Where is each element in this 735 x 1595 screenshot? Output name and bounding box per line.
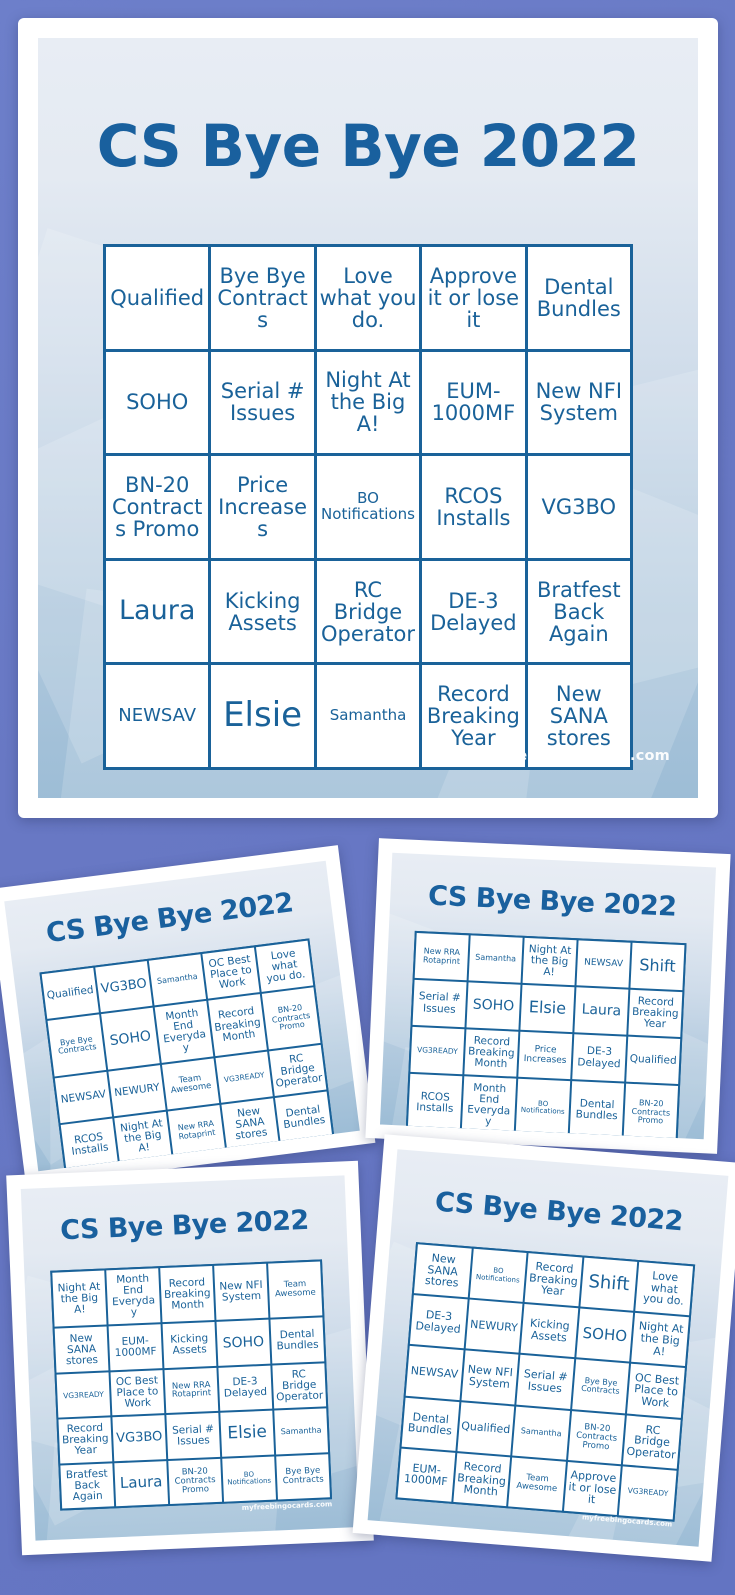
- bingo-cell[interactable]: Approve it or lose it: [422, 247, 524, 349]
- bingo-cell[interactable]: Bratfest Back Again: [60, 1463, 114, 1509]
- bingo-cell[interactable]: NEWSAV: [577, 940, 631, 987]
- bingo-cell[interactable]: Qualified: [42, 968, 99, 1019]
- bingo-cell[interactable]: Month End Everyday: [106, 1268, 160, 1325]
- bingo-cell[interactable]: Samantha: [274, 1409, 328, 1455]
- bingo-cell[interactable]: [281, 1138, 334, 1156]
- card-canvas: CS Bye Bye 2022 New SANA stores BO Notif…: [368, 1149, 729, 1546]
- bingo-card-main[interactable]: CS Bye Bye 2022 Qualified Bye Bye Contra…: [18, 18, 718, 818]
- bingo-cell[interactable]: New RRA Rotaprint: [415, 933, 469, 980]
- bingo-cell[interactable]: VG3BO: [95, 961, 152, 1012]
- bingo-card-4[interactable]: CS Bye Bye 2022 Night At the Big A! Mont…: [6, 1161, 374, 1555]
- bingo-cell[interactable]: NEWSAV: [55, 1072, 112, 1123]
- bingo-cell[interactable]: Bye Bye Contracts: [572, 1360, 629, 1413]
- bingo-cell[interactable]: Serial # Issues: [211, 352, 313, 454]
- bingo-grid: Night At the Big A! Month End Everyday R…: [50, 1259, 332, 1510]
- bingo-cell[interactable]: Approve it or lose it: [564, 1462, 621, 1515]
- bingo-grid: New RRA Rotaprint Samantha Night At the …: [405, 931, 686, 1139]
- bingo-cell[interactable]: Record Breaking Year: [525, 1253, 582, 1306]
- card-title: CS Bye Bye 2022: [392, 1183, 725, 1241]
- bingo-cell[interactable]: SOHO: [101, 1008, 160, 1070]
- bingo-cell[interactable]: Dental Bundles: [270, 1318, 324, 1364]
- bingo-cell[interactable]: Serial # Issues: [413, 980, 467, 1027]
- bingo-cell[interactable]: Elsie: [220, 1411, 274, 1457]
- bingo-cell[interactable]: NEWURY: [465, 1300, 522, 1353]
- bingo-cell[interactable]: Kicking Assets: [163, 1322, 217, 1368]
- bingo-cell[interactable]: DE-3 Delayed: [410, 1295, 467, 1348]
- bingo-cell[interactable]: New SANA stores: [55, 1327, 109, 1373]
- bingo-cell[interactable]: DE-3 Delayed: [218, 1365, 272, 1411]
- bingo-cell[interactable]: BO Notifications: [469, 1249, 526, 1302]
- bingo-cell[interactable]: Bye Bye Contracts: [211, 247, 313, 349]
- bingo-cell[interactable]: SOHO: [106, 352, 208, 454]
- bingo-cell[interactable]: Serial # Issues: [166, 1413, 220, 1459]
- watermark: myfreebingocards.com: [479, 748, 670, 764]
- bingo-cell[interactable]: New NFI System: [528, 352, 630, 454]
- bingo-card-5[interactable]: CS Bye Bye 2022 New SANA stores BO Notif…: [353, 1134, 735, 1562]
- bingo-cell[interactable]: NEWSAV: [406, 1346, 463, 1399]
- card-canvas: CS Bye Bye 2022 Qualified Bye Bye Contra…: [38, 38, 698, 798]
- bingo-cell[interactable]: Elsie: [520, 985, 574, 1032]
- bingo-cell[interactable]: New SANA stores: [221, 1098, 278, 1149]
- bingo-card-3[interactable]: CS Bye Bye 2022 New RRA Rotaprint Samant…: [365, 838, 730, 1154]
- bingo-cell[interactable]: Shift: [580, 1258, 637, 1311]
- bingo-cell[interactable]: New NFI System: [461, 1351, 518, 1404]
- bingo-cell[interactable]: Month End Everyday: [155, 1001, 214, 1063]
- bingo-cell[interactable]: Team Awesome: [162, 1058, 219, 1109]
- bingo-cell[interactable]: VG3READY: [216, 1052, 273, 1103]
- bingo-cell[interactable]: Love what you do.: [317, 247, 419, 349]
- bingo-cell[interactable]: Qualified: [106, 247, 208, 349]
- bingo-cell[interactable]: SOHO: [217, 1320, 271, 1366]
- bingo-cell[interactable]: Bye Bye Contracts: [48, 1014, 107, 1076]
- bingo-cell[interactable]: Laura: [114, 1461, 168, 1507]
- bingo-cell[interactable]: Record Breaking Month: [453, 1453, 510, 1506]
- bingo-cell[interactable]: Love what you do.: [256, 941, 313, 992]
- bingo-cell[interactable]: Record Breaking Month: [464, 1029, 518, 1076]
- bingo-cell[interactable]: New RRA Rotaprint: [168, 1105, 225, 1156]
- bingo-cell[interactable]: RCOS Installs: [61, 1119, 118, 1170]
- bingo-cell[interactable]: OC Best Place to Work: [627, 1364, 684, 1417]
- bingo-cell[interactable]: Night At the Big A!: [317, 352, 419, 454]
- bingo-cell[interactable]: VG3BO: [528, 456, 630, 558]
- bingo-cell[interactable]: EUM-1000MF: [109, 1325, 163, 1371]
- bingo-card-2[interactable]: CS Bye Bye 2022 Qualified VG3BO Samantha…: [0, 845, 375, 1187]
- bingo-cell[interactable]: Elsie: [211, 665, 313, 767]
- bingo-cell[interactable]: Month End Everyday: [462, 1076, 516, 1134]
- bingo-cell[interactable]: NEWSAV: [106, 665, 208, 767]
- bingo-cell[interactable]: Night At the Big A!: [114, 1112, 171, 1163]
- bingo-cell[interactable]: RC Bridge Operator: [269, 1045, 326, 1096]
- bingo-cell[interactable]: BN-20 Contracts Promo: [262, 987, 321, 1049]
- bingo-cell[interactable]: Bratfest Back Again: [528, 561, 630, 663]
- bingo-cell[interactable]: OC Best Place to Work: [202, 947, 259, 998]
- card-title: CS Bye Bye 2022: [22, 1203, 347, 1248]
- bingo-cell[interactable]: Dental Bundles: [528, 247, 630, 349]
- bingo-cell[interactable]: Night At the Big A!: [632, 1313, 689, 1366]
- bingo-cell[interactable]: Record Breaking Month: [160, 1266, 214, 1323]
- bingo-cell[interactable]: Record Breaking Year: [58, 1418, 112, 1464]
- bingo-cell[interactable]: EUM-1000MF: [422, 352, 524, 454]
- bingo-cell[interactable]: RCOS Installs: [422, 456, 524, 558]
- bingo-cell[interactable]: RC Bridge Operator: [623, 1415, 680, 1468]
- bingo-cell[interactable]: BO Notifications: [222, 1456, 276, 1502]
- bingo-cell[interactable]: Dental Bundles: [570, 1081, 624, 1139]
- bingo-cell[interactable]: Record Breaking Month: [208, 994, 267, 1056]
- bingo-cell[interactable]: Dental Bundles: [402, 1397, 459, 1450]
- bingo-cell[interactable]: Price Increases: [211, 456, 313, 558]
- bingo-cell[interactable]: DE-3 Delayed: [572, 1034, 626, 1081]
- bingo-grid: New SANA stores BO Notifications Record …: [395, 1242, 695, 1522]
- bingo-cell[interactable]: Price Increases: [518, 1032, 572, 1079]
- bingo-cell[interactable]: Record Breaking Year: [628, 990, 682, 1037]
- bingo-cell[interactable]: New SANA stores: [414, 1244, 471, 1297]
- bingo-cell[interactable]: VG3READY: [57, 1372, 111, 1418]
- bingo-cell[interactable]: Samantha: [149, 954, 206, 1005]
- bingo-cell[interactable]: VG3READY: [619, 1466, 676, 1519]
- bingo-cell[interactable]: VG3READY: [410, 1027, 464, 1074]
- bingo-cell[interactable]: SOHO: [466, 982, 520, 1029]
- bingo-cell[interactable]: Kicking Assets: [521, 1304, 578, 1357]
- bingo-cell[interactable]: Laura: [574, 987, 628, 1034]
- bingo-cell[interactable]: [461, 1134, 513, 1139]
- bingo-cell[interactable]: Love what you do.: [636, 1262, 693, 1315]
- bingo-cell[interactable]: NEWURY: [108, 1065, 165, 1116]
- bingo-cell[interactable]: Serial # Issues: [517, 1355, 574, 1408]
- bingo-cell[interactable]: Dental Bundles: [275, 1091, 332, 1142]
- bingo-cell[interactable]: Team Awesome: [508, 1457, 565, 1510]
- bingo-cell[interactable]: OC Best Place to Work: [111, 1370, 165, 1416]
- card-title: CS Bye Bye 2022: [38, 112, 698, 180]
- bingo-cell[interactable]: Shift: [630, 943, 684, 990]
- bingo-cell[interactable]: EUM-1000MF: [398, 1448, 455, 1501]
- bingo-cell[interactable]: BO Notifications: [516, 1079, 570, 1137]
- bingo-cell[interactable]: Night At the Big A!: [52, 1271, 106, 1328]
- bingo-cell[interactable]: Team Awesome: [268, 1261, 322, 1318]
- bingo-cell[interactable]: DE-3 Delayed: [422, 561, 524, 663]
- bingo-cell[interactable]: Qualified: [457, 1402, 514, 1455]
- bingo-grid: Qualified Bye Bye Contracts Love what yo…: [103, 244, 633, 770]
- bingo-cell[interactable]: Bye Bye Contracts: [276, 1454, 330, 1500]
- bingo-cell[interactable]: RCOS Installs: [408, 1074, 462, 1132]
- bingo-cell[interactable]: New NFI System: [214, 1264, 268, 1321]
- bingo-cell[interactable]: Samantha: [512, 1406, 569, 1459]
- bingo-cell[interactable]: Laura: [106, 561, 208, 663]
- bingo-cell[interactable]: BN-20 Contracts Promo: [168, 1458, 222, 1504]
- bingo-cell[interactable]: RC Bridge Operator: [317, 561, 419, 663]
- card-canvas: CS Bye Bye 2022 New RRA Rotaprint Samant…: [380, 853, 716, 1139]
- card-canvas: CS Bye Bye 2022 Night At the Big A! Mont…: [21, 1175, 359, 1540]
- bingo-cell[interactable]: SOHO: [576, 1309, 633, 1362]
- bingo-cell[interactable]: [227, 1145, 280, 1163]
- bingo-cell[interactable]: Samantha: [469, 935, 523, 982]
- bingo-cell[interactable]: BO Notifications: [317, 456, 419, 558]
- bingo-cell[interactable]: BN-20 Contracts Promo: [568, 1411, 625, 1464]
- bingo-cell[interactable]: New RRA Rotaprint: [164, 1368, 218, 1414]
- bingo-cell[interactable]: Night At the Big A!: [523, 938, 577, 985]
- bingo-cell[interactable]: [515, 1137, 567, 1140]
- bingo-cell[interactable]: Samantha: [317, 665, 419, 767]
- bingo-cell[interactable]: RC Bridge Operator: [272, 1363, 326, 1409]
- bingo-cell[interactable]: BN-20 Contracts Promo: [624, 1084, 678, 1140]
- bingo-cell[interactable]: Kicking Assets: [211, 561, 313, 663]
- bingo-cell[interactable]: BN-20 Contracts Promo: [106, 456, 208, 558]
- card-canvas: CS Bye Bye 2022 Qualified VG3BO Samantha…: [4, 861, 360, 1171]
- bingo-cell[interactable]: VG3BO: [112, 1415, 166, 1461]
- card-title: CS Bye Bye 2022: [390, 879, 715, 925]
- bingo-grid: Qualified VG3BO Samantha OC Best Place t…: [39, 938, 336, 1171]
- bingo-cell[interactable]: Qualified: [626, 1037, 680, 1084]
